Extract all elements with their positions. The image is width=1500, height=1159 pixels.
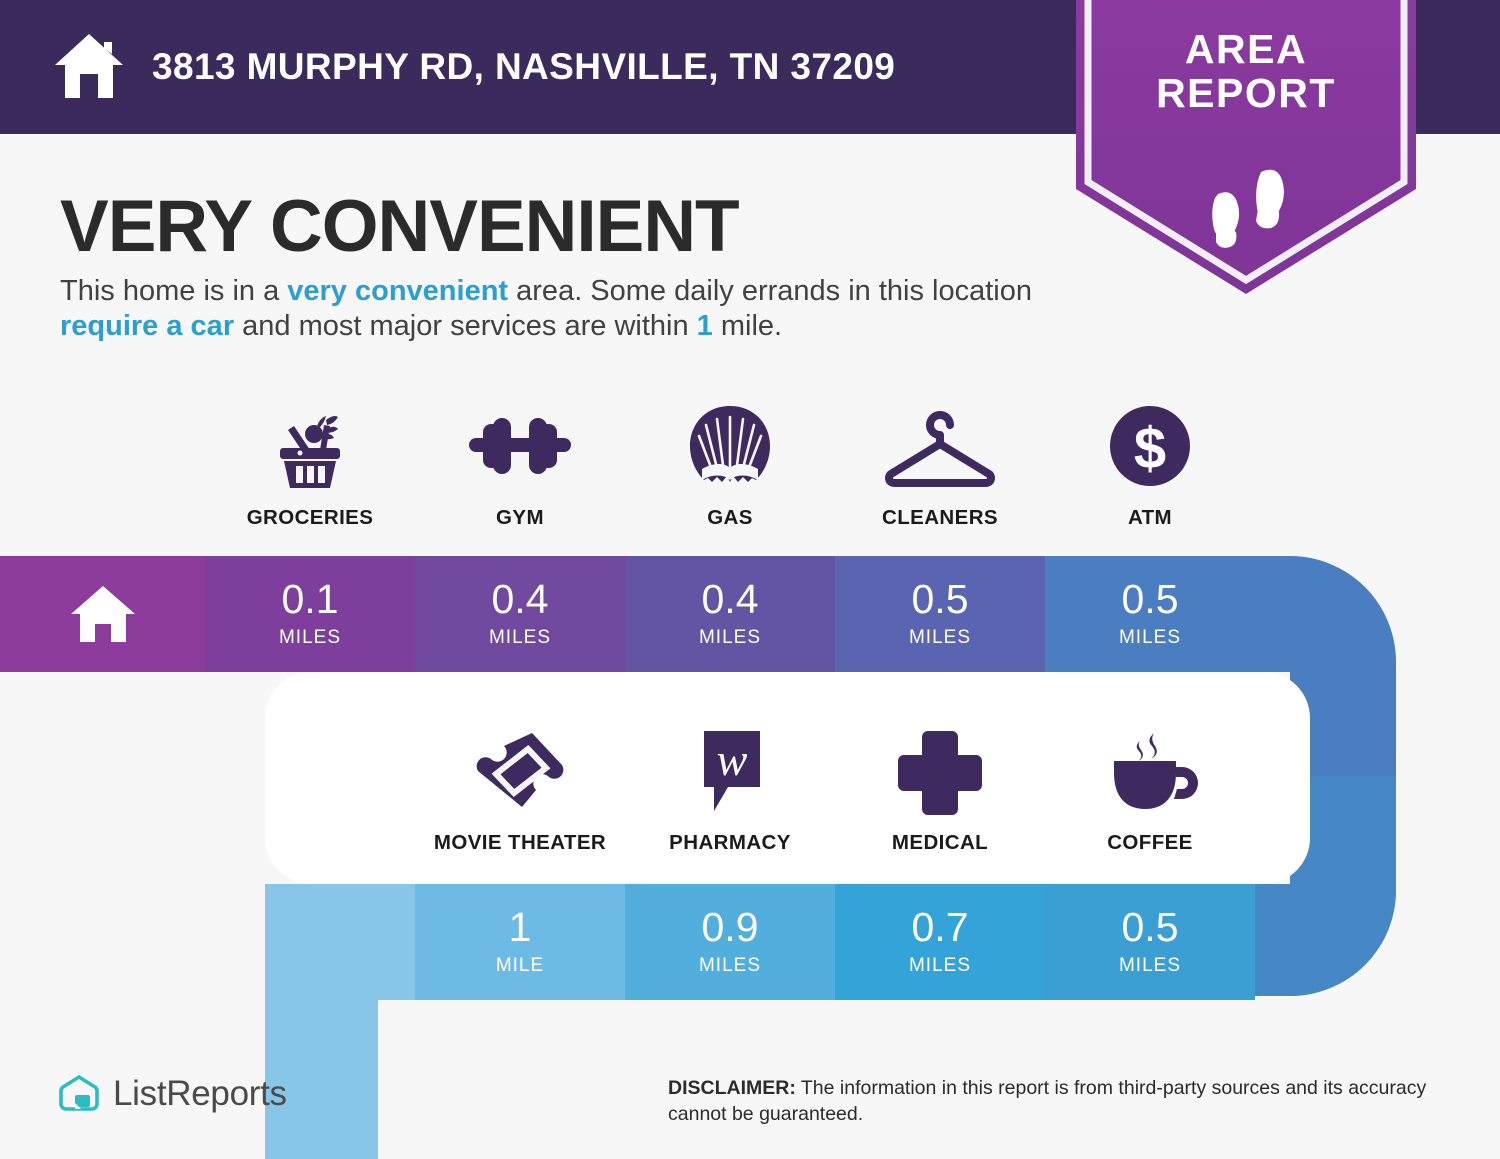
bar-value: 1	[509, 907, 532, 948]
home-icon	[67, 582, 139, 646]
amenity-label: GAS	[707, 506, 753, 530]
bar-unit: MILES	[909, 627, 971, 649]
bar-unit: MILES	[1119, 627, 1181, 649]
bar-cell-medical: 0.7 MILES	[835, 884, 1045, 1000]
property-address: 3813 MURPHY RD, NASHVILLE, TN 37209	[152, 46, 895, 88]
bar-unit: MILES	[699, 955, 761, 977]
disclaimer-label: DISCLAIMER:	[668, 1077, 796, 1099]
svg-text:w: w	[717, 734, 748, 785]
distance-row-1: 0.1 MILES 0.4 MILES 0.4 MILES 0.5 MILES …	[0, 556, 1255, 672]
area-report-badge: AREA REPORT	[1076, 0, 1416, 306]
bar-value: 0.5	[912, 579, 969, 620]
amenity-movie-theater: MOVIE THEATER	[415, 725, 625, 855]
bar-cell-cleaners: 0.5 MILES	[835, 556, 1045, 672]
disclaimer: DISCLAIMER: The information in this repo…	[668, 1075, 1458, 1128]
amenity-label: MEDICAL	[892, 831, 988, 855]
badge-shape	[1076, 0, 1416, 294]
amenity-icons-row-1: GROCERIES GYM	[205, 400, 1255, 530]
amenity-label: GROCERIES	[247, 506, 374, 530]
page-title: VERY CONVENIENT	[60, 185, 739, 268]
svg-text:$: $	[1134, 416, 1166, 481]
amenity-label: PHARMACY	[669, 831, 791, 855]
bar-value: 0.9	[702, 907, 759, 948]
pharmacy-w-icon: w	[684, 725, 776, 817]
amenity-label: COFFEE	[1107, 831, 1193, 855]
bar-value: 0.7	[912, 907, 969, 948]
dumbbell-icon	[465, 400, 575, 492]
subtitle-highlight-2: require a car	[60, 310, 234, 342]
bar-unit: MILES	[1119, 955, 1181, 977]
bar-unit: MILE	[496, 955, 544, 977]
amenity-coffee: COFFEE	[1045, 725, 1255, 855]
grocery-basket-icon	[264, 400, 356, 492]
bar-cell-coffee: 0.5 MILES	[1045, 884, 1255, 1000]
amenity-label: CLEANERS	[882, 506, 998, 530]
amenity-groceries: GROCERIES	[205, 400, 415, 530]
bar-cell-groceries: 0.1 MILES	[205, 556, 415, 672]
clothes-hanger-icon	[875, 400, 1005, 492]
bar-unit: MILES	[489, 627, 551, 649]
amenity-label: ATM	[1128, 506, 1172, 530]
home-icon	[52, 32, 126, 102]
bar-cell-home	[0, 556, 205, 672]
bar-cell-pharmacy: 0.9 MILES	[625, 884, 835, 1000]
area-report-infographic: 0.1 MILES 0.4 MILES 0.4 MILES 0.5 MILES …	[0, 0, 1500, 1159]
subtitle-part-2: area. Some daily errands in this locatio…	[508, 275, 1032, 307]
amenity-pharmacy: w PHARMACY	[625, 725, 835, 855]
bar-cell-movie-theater: 1 MILE	[415, 884, 625, 1000]
subtitle-highlight-3: 1	[697, 310, 713, 342]
bar-unit: MILES	[699, 627, 761, 649]
bar-cell-gas: 0.4 MILES	[625, 556, 835, 672]
medical-cross-icon	[894, 725, 986, 817]
bar-cell-spacer	[265, 884, 415, 1000]
bar-cell-gym: 0.4 MILES	[415, 556, 625, 672]
subtitle-part-1: This home is in a	[60, 275, 287, 307]
amenity-medical: MEDICAL	[835, 725, 1045, 855]
bar-unit: MILES	[909, 955, 971, 977]
amenity-gas: GAS	[625, 400, 835, 530]
bar-value: 0.4	[492, 579, 549, 620]
amenity-label: MOVIE THEATER	[434, 831, 606, 855]
listreports-logo[interactable]: ListReports	[58, 1073, 287, 1115]
subtitle-highlight-1: very convenient	[287, 275, 508, 307]
amenity-gym: GYM	[415, 400, 625, 530]
bar-value: 0.5	[1122, 907, 1179, 948]
subtitle-part-3: and most major services are within	[234, 310, 697, 342]
bar-value: 0.1	[282, 579, 339, 620]
amenity-cleaners: CLEANERS	[835, 400, 1045, 530]
bar-value: 0.4	[702, 579, 759, 620]
bar-cell-atm: 0.5 MILES	[1045, 556, 1255, 672]
amenity-label: GYM	[496, 506, 544, 530]
bar-value: 0.5	[1122, 579, 1179, 620]
amenity-atm: $ ATM	[1045, 400, 1255, 530]
shell-gas-icon	[684, 400, 776, 492]
listreports-house-icon	[58, 1073, 100, 1115]
amenity-icons-row-2: MOVIE THEATER w PHARMACY MEDICAL	[415, 725, 1255, 855]
bar-unit: MILES	[279, 627, 341, 649]
subtitle-part-4: mile.	[713, 310, 782, 342]
distance-row-2: 1 MILE 0.9 MILES 0.7 MILES 0.5 MILES	[265, 884, 1255, 1000]
dollar-circle-icon: $	[1104, 400, 1196, 492]
page-subtitle: This home is in a very convenient area. …	[60, 274, 1060, 344]
movie-ticket-icon	[470, 725, 570, 817]
listreports-wordmark: ListReports	[113, 1074, 287, 1114]
coffee-cup-icon	[1100, 725, 1200, 817]
